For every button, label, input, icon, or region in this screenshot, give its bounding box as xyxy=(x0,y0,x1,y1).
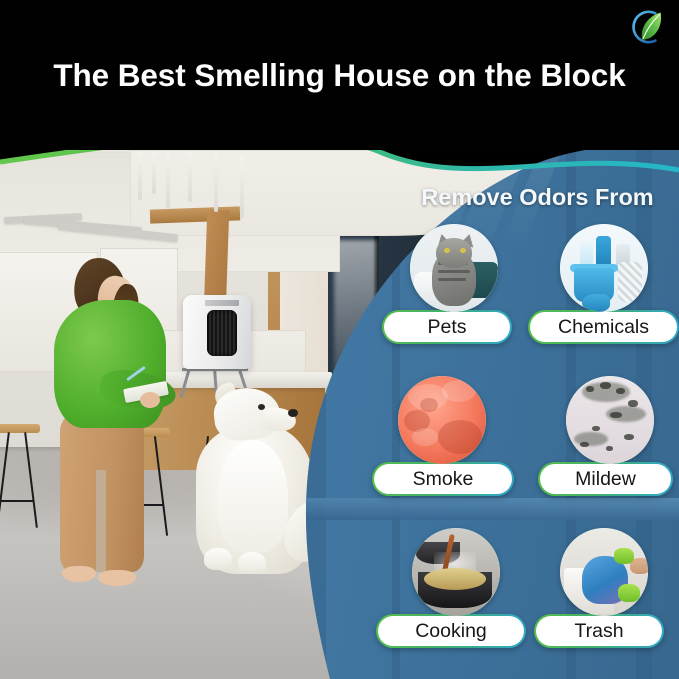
badge-pill-cooking[interactable]: Cooking xyxy=(376,614,526,648)
badge-label: Trash xyxy=(536,616,662,646)
trash-bag-icon xyxy=(560,528,648,616)
panel-heading: Remove Odors From xyxy=(396,184,679,211)
dog-paw xyxy=(238,552,266,574)
smoke-macro-icon xyxy=(398,376,486,464)
pendant-rod xyxy=(214,154,218,212)
leaf-in-circle-logo xyxy=(628,8,666,46)
purifier-brand-mark xyxy=(205,300,239,306)
badge-label: Mildew xyxy=(540,464,671,494)
pendant-rod xyxy=(240,156,244,218)
badge-label: Pets xyxy=(384,312,510,342)
badge-pill-smoke[interactable]: Smoke xyxy=(372,462,514,496)
header-bar: The Best Smelling House on the Block xyxy=(0,0,679,150)
cleaning-supplies-icon xyxy=(560,224,648,312)
badge-pill-chemicals[interactable]: Chemicals xyxy=(528,310,679,344)
odor-category-list: Pets xyxy=(382,218,679,673)
woman-hand xyxy=(140,392,160,408)
badge-pill-pets[interactable]: Pets xyxy=(382,310,512,344)
badge-image-mildew[interactable] xyxy=(566,376,654,464)
page-title: The Best Smelling House on the Block xyxy=(0,55,679,95)
woman-foot xyxy=(62,566,96,582)
pendant-rod xyxy=(152,152,156,194)
stool-rung xyxy=(0,500,34,502)
air-purifier-device xyxy=(183,295,251,369)
badge-label: Smoke xyxy=(374,464,512,494)
cat-in-litter-box-icon xyxy=(410,224,498,312)
badge-image-cooking[interactable] xyxy=(412,528,500,616)
badge-image-pets[interactable] xyxy=(410,224,498,312)
pendant-rod xyxy=(188,152,192,202)
badge-pill-mildew[interactable]: Mildew xyxy=(538,462,673,496)
purifier-vent-grille xyxy=(207,310,237,356)
mildew-mold-icon xyxy=(566,376,654,464)
badge-label: Chemicals xyxy=(530,312,677,342)
dog-chest xyxy=(218,440,288,552)
promo-infographic: The Best Smelling House on the Block Rem… xyxy=(0,0,679,679)
bar-stool-seat xyxy=(0,424,40,433)
pendant-rod xyxy=(166,152,170,208)
dog-eye xyxy=(258,404,265,410)
badge-image-chemicals[interactable] xyxy=(560,224,648,312)
woman-leg-gap xyxy=(96,470,106,574)
badge-image-trash[interactable] xyxy=(560,528,648,616)
pendant-rod xyxy=(138,152,142,200)
woman-foot xyxy=(98,570,136,586)
dog-nose xyxy=(288,409,298,417)
frying-pan-icon xyxy=(412,528,500,616)
badge-image-smoke[interactable] xyxy=(398,376,486,464)
badge-pill-trash[interactable]: Trash xyxy=(534,614,664,648)
dog-paw xyxy=(204,548,232,570)
badge-label: Cooking xyxy=(378,616,524,646)
